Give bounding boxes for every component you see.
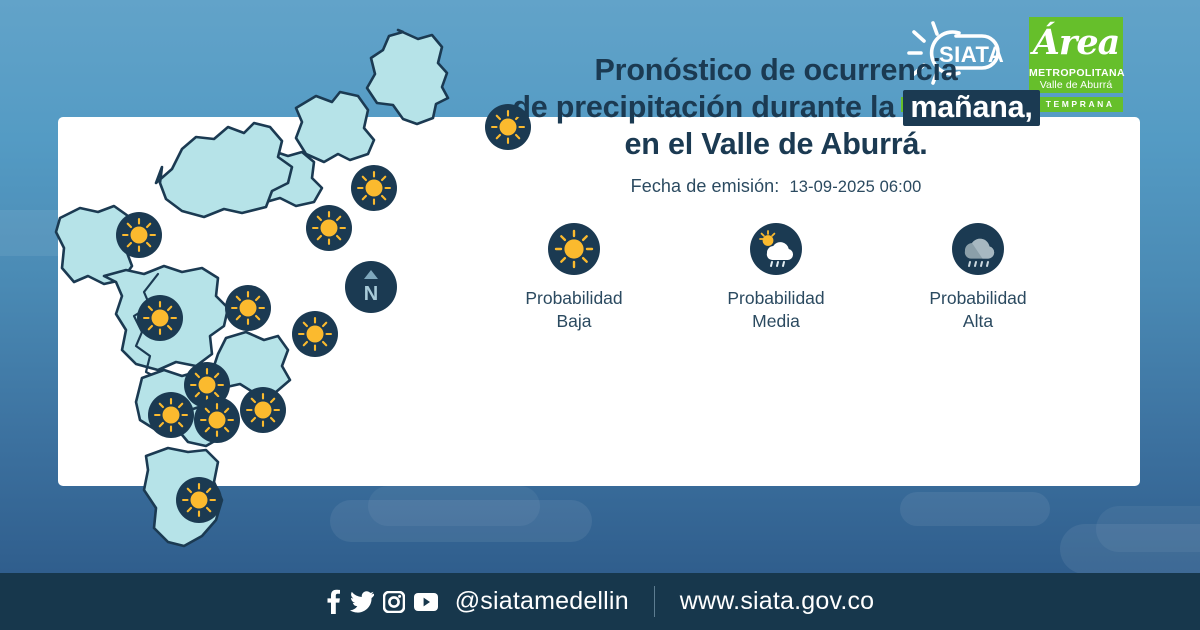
municipality-bello: [156, 123, 292, 217]
legend-alta-line2: Alta: [915, 310, 1041, 333]
legend-caption-alta: Probabilidad Alta: [915, 287, 1041, 333]
legend-baja-line1: Probabilidad: [511, 287, 637, 310]
sun-icon: [148, 392, 194, 438]
background-cloud-7: [900, 492, 1050, 526]
sun-icon: [176, 477, 222, 523]
municipality-girardota: [296, 92, 374, 162]
sun-icon: [292, 311, 338, 357]
social-handle[interactable]: @siatamedellin: [455, 587, 629, 616]
emission-date: Fecha de emisión: 13-09-2025 06:00: [470, 176, 1082, 197]
website-url[interactable]: www.siata.gov.co: [680, 587, 874, 616]
legend-alta-line1: Probabilidad: [915, 287, 1041, 310]
footer-divider: [654, 586, 655, 617]
legend-caption-media: Probabilidad Media: [713, 287, 839, 333]
sun-icon: [116, 212, 162, 258]
social-icons: [326, 589, 438, 614]
probability-legend: Probabilidad Baja: [470, 223, 1082, 333]
page-title: Pronóstico de ocurrencia de precipitació…: [470, 52, 1082, 163]
sun-icon: [306, 205, 352, 251]
sun-cloud-rain-icon: [713, 223, 839, 275]
headline-line-2: de precipitación durante la mañana,: [470, 89, 1082, 126]
sun-icon: [511, 223, 637, 275]
municipality-barbosa: [367, 30, 448, 124]
valle-de-aburra-map: N: [38, 8, 458, 608]
legend-caption-baja: Probabilidad Baja: [511, 287, 637, 333]
headline-line-1: Pronóstico de ocurrencia: [470, 52, 1082, 89]
legend-media-line1: Probabilidad: [713, 287, 839, 310]
sun-icon: [225, 285, 271, 331]
youtube-icon[interactable]: [414, 593, 438, 611]
headline-line-2-pre: de precipitación durante la: [512, 90, 895, 124]
cloud-rain-icon: [915, 223, 1041, 275]
north-compass: N: [345, 261, 397, 313]
compass-label: N: [364, 283, 378, 305]
background-cloud-6: [1096, 506, 1200, 552]
headline-line-3: en el Valle de Aburrá.: [470, 126, 1082, 163]
sun-icon: [137, 295, 183, 341]
emission-value: 13-09-2025 06:00: [790, 178, 922, 196]
sun-icon: [194, 397, 240, 443]
forecast-text-panel: Pronóstico de ocurrencia de precipitació…: [470, 52, 1082, 333]
legend-baja-line2: Baja: [511, 310, 637, 333]
footer-bar: @siatamedellin www.siata.gov.co: [0, 573, 1200, 630]
legend-item-media: Probabilidad Media: [713, 223, 839, 333]
headline-highlight: mañana,: [903, 90, 1039, 126]
legend-item-baja: Probabilidad Baja: [511, 223, 637, 333]
twitter-icon[interactable]: [350, 591, 374, 613]
legend-item-alta: Probabilidad Alta: [915, 223, 1041, 333]
sun-icon: [351, 165, 397, 211]
emission-label: Fecha de emisión:: [631, 176, 780, 196]
instagram-icon[interactable]: [383, 591, 405, 613]
infographic-canvas: SIATA Área METROPOLITANA Valle de Aburrá…: [0, 0, 1200, 630]
sun-icon: [240, 387, 286, 433]
facebook-icon[interactable]: [326, 589, 341, 614]
legend-media-line2: Media: [713, 310, 839, 333]
